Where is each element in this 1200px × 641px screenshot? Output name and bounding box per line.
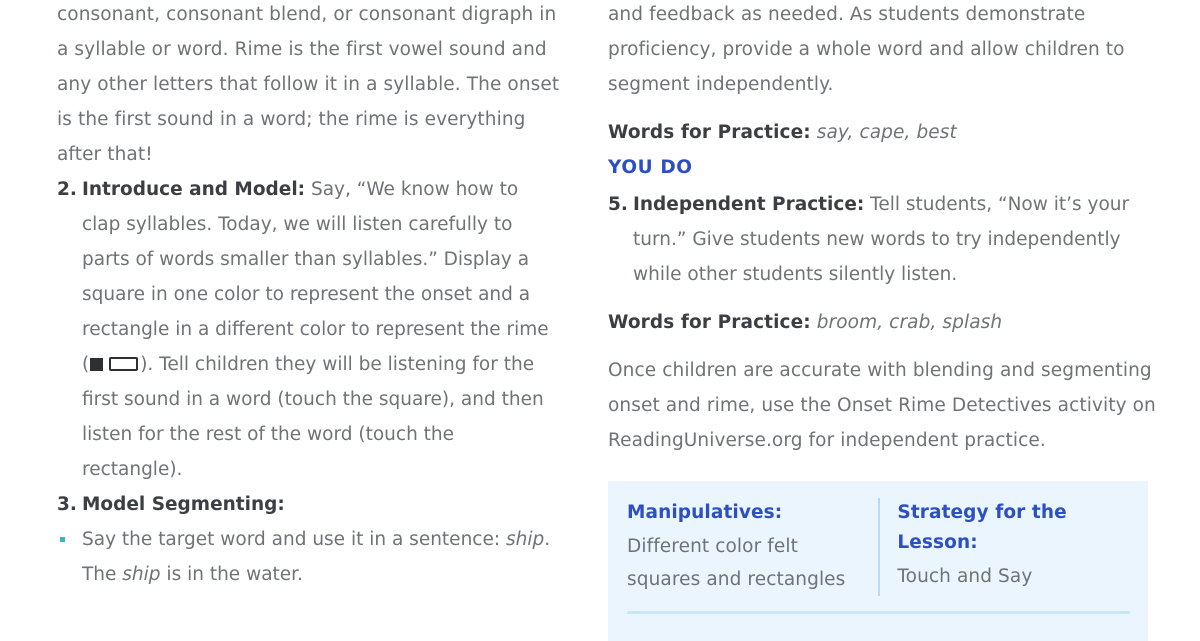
numbered-item-2: 2. Introduce and Model: Say, “We know ho…: [57, 172, 560, 487]
left-column: consonant, consonant blend, or consonant…: [0, 0, 580, 592]
outlined-rectangle-glyph-icon: [109, 357, 138, 371]
words-for-practice-2: Words for Practice: broom, crab, splash: [608, 305, 1170, 340]
left-continued-paragraph: consonant, consonant blend, or consonant…: [57, 0, 560, 172]
strategy-text: Touch and Say: [897, 560, 1126, 593]
words-for-practice-1: Words for Practice: say, cape, best: [608, 115, 1170, 150]
section-heading-you-do: YOU DO: [608, 150, 1170, 185]
right-column: and feedback as needed. As students demo…: [600, 0, 1200, 458]
words-for-practice-1-label: Words for Practice:: [608, 122, 811, 143]
bullet-item-1-italic-word-2: ship: [122, 564, 160, 585]
numbered-item-3-number: 3.: [57, 487, 77, 522]
filled-square-glyph-icon: [90, 358, 103, 371]
numbered-item-2-label: Introduce and Model:: [82, 179, 305, 200]
numbered-item-5-label: Independent Practice:: [633, 194, 864, 215]
bullet-item-1-text-before-italic: Say the target word and use it in a sent…: [82, 529, 506, 550]
numbered-item-2-text-before-shapes: Say, “We know how to clap syllables. Tod…: [82, 179, 549, 375]
manipulatives-text: Different color felt squares and rectang…: [627, 530, 860, 596]
info-box-divider-rule: [627, 611, 1130, 614]
info-box-columns: Manipulatives: Different color felt squa…: [627, 498, 1126, 596]
bullet-item-1-text-after: is in the water.: [161, 564, 303, 585]
numbered-item-2-text-after-shapes: ). Tell children they will be listening …: [82, 354, 544, 480]
manipulatives-title: Manipulatives:: [627, 498, 860, 528]
strategy-title: Strategy for the Lesson:: [897, 498, 1126, 558]
words-for-practice-2-words: broom, crab, splash: [811, 312, 1003, 333]
right-continued-paragraph: and feedback as needed. As students demo…: [608, 0, 1170, 102]
numbered-item-3-label: Model Segmenting:: [82, 494, 285, 515]
info-box-manipulatives: Manipulatives: Different color felt squa…: [627, 498, 878, 596]
info-box-strategy: Strategy for the Lesson: Touch and Say: [878, 498, 1126, 596]
words-for-practice-1-words: say, cape, best: [811, 122, 957, 143]
numbered-item-3: 3. Model Segmenting:: [57, 487, 560, 522]
bullet-dot-icon: [60, 537, 65, 542]
bullet-item-1: Say the target word and use it in a sent…: [57, 522, 560, 592]
numbered-item-5: 5. Independent Practice: Tell students, …: [608, 187, 1170, 292]
bullet-item-1-italic-word-1: ship: [506, 529, 544, 550]
document-page: consonant, consonant blend, or consonant…: [0, 0, 1200, 630]
closing-paragraph: Once children are accurate with blending…: [608, 353, 1170, 458]
words-for-practice-2-label: Words for Practice:: [608, 312, 811, 333]
numbered-item-2-number: 2.: [57, 172, 77, 207]
numbered-item-5-number: 5.: [608, 187, 628, 222]
lesson-info-box: Manipulatives: Different color felt squa…: [608, 481, 1148, 641]
